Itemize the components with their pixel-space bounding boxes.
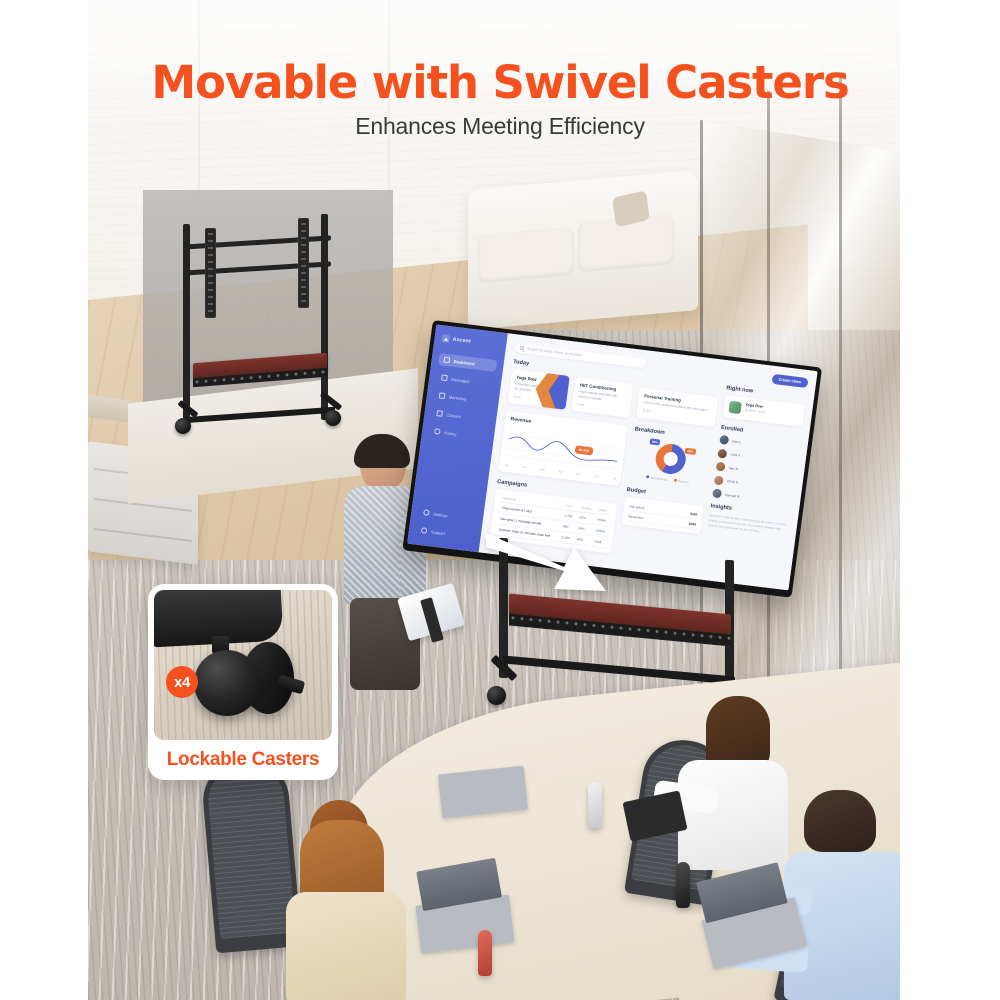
product-marketing-image: Ascent Dashboard Messages (0, 0, 1000, 1000)
avatar (715, 462, 725, 472)
sidebar-item-classes[interactable]: Classes (431, 407, 490, 426)
sidebar-item-marketing[interactable]: Marketing (433, 389, 492, 408)
avatar (714, 475, 724, 485)
help-icon (421, 527, 428, 534)
sidebar-item-label: Settings (433, 511, 448, 518)
mountain-logo-icon (441, 334, 450, 343)
seated-man (778, 790, 900, 1000)
sidebar-nav: Dashboard Messages Marketing (429, 353, 498, 443)
caster-wheel-icon (325, 410, 341, 426)
caster-wheel-icon (194, 650, 260, 716)
right-now-card[interactable]: Yoga flow Studio B · 8 am (722, 395, 805, 427)
column-primary: Today Yoga flow Grounded, slow flow for … (490, 359, 635, 553)
column-secondary: Personal Training One-on-one sessions bo… (618, 375, 720, 564)
sidebar-item-history[interactable]: History (429, 424, 488, 443)
avatar (712, 488, 722, 498)
clock-icon (434, 428, 441, 435)
avatar (717, 448, 727, 458)
sidebar-item-label: Classes (446, 412, 461, 419)
donut-legend: Memberships Drop-ins (646, 475, 689, 484)
create-class-button[interactable]: Create class (771, 374, 808, 388)
laptop (438, 766, 528, 819)
water-bottle (676, 862, 690, 908)
lounge-sofa (468, 170, 698, 330)
grid-icon (443, 357, 450, 364)
calendar-icon (436, 410, 443, 417)
today-card[interactable]: HIIT Conditioning High intensity interva… (572, 377, 634, 417)
water-bottle (588, 782, 602, 828)
search-placeholder: Search by class, name, or member (527, 347, 583, 358)
tv-stand-ghost (143, 200, 373, 430)
today-card[interactable]: Personal Training One-on-one sessions bo… (636, 388, 718, 427)
callout-label: Lockable Casters (148, 749, 338, 771)
brand: Ascent (441, 334, 500, 349)
enrolled-list: Mia G. Leila A. Alex R. (712, 435, 800, 507)
sidebar-item-label: History (444, 430, 457, 436)
search-icon (520, 346, 524, 350)
page-headline: Movable with Swivel Casters (0, 56, 1000, 109)
sidebar-item-label: Marketing (449, 394, 467, 401)
vesa-mount-bar (205, 228, 216, 318)
card-art (543, 371, 570, 409)
revenue-chart-card: Revenue (499, 410, 629, 485)
class-thumbnail (728, 401, 741, 414)
gear-icon (423, 509, 430, 516)
vesa-mount-bar (298, 218, 309, 308)
donut-pin-memberships: 58% (649, 438, 661, 445)
sidebar-item-messages[interactable]: Messages (436, 371, 495, 390)
sidebar-item-label: Messages (451, 376, 470, 383)
sidebar-item-label: Dashboard (453, 358, 474, 366)
donut-pin-dropins: 42% (684, 448, 696, 455)
water-bottle (478, 930, 492, 976)
caster-wheel-icon (175, 418, 191, 434)
mail-icon (441, 374, 448, 381)
transition-arrow-icon (486, 525, 606, 599)
quantity-badge: x4 (166, 666, 198, 698)
sidebar-item-settings[interactable]: Settings (418, 506, 477, 525)
lifestyle-photo: Ascent Dashboard Messages (88, 0, 900, 1000)
budget-card: Ads spend $420 Equipment $285 (622, 497, 703, 534)
legend-item: Drop-ins (673, 479, 689, 485)
legend-item: Memberships (646, 475, 668, 482)
lockable-casters-callout: x4 Lockable Casters (148, 584, 338, 780)
today-card[interactable]: Yoga flow Grounded, slow flow for all le… (508, 369, 570, 409)
class-meta: Studio B · 8 am (744, 408, 764, 414)
page-subheadline: Enhances Meeting Efficiency (0, 113, 1000, 140)
megaphone-icon (439, 392, 446, 399)
caster-wheel-icon (487, 686, 506, 705)
tv-stand-with-display: Ascent Dashboard Messages (433, 320, 833, 700)
seated-woman-left (276, 800, 426, 1000)
sidebar-item-dashboard[interactable]: Dashboard (438, 353, 497, 372)
brand-name: Ascent (452, 337, 471, 345)
avatar (719, 435, 729, 445)
sidebar-nav-bottom: Settings Support (415, 506, 477, 543)
sidebar-item-label: Support (431, 529, 446, 536)
caster-closeup-photo: x4 (154, 590, 332, 740)
sidebar-item-support[interactable]: Support (415, 524, 474, 543)
breakdown-donut-chart: 58% 42% Memberships Drop-ins (628, 436, 711, 486)
